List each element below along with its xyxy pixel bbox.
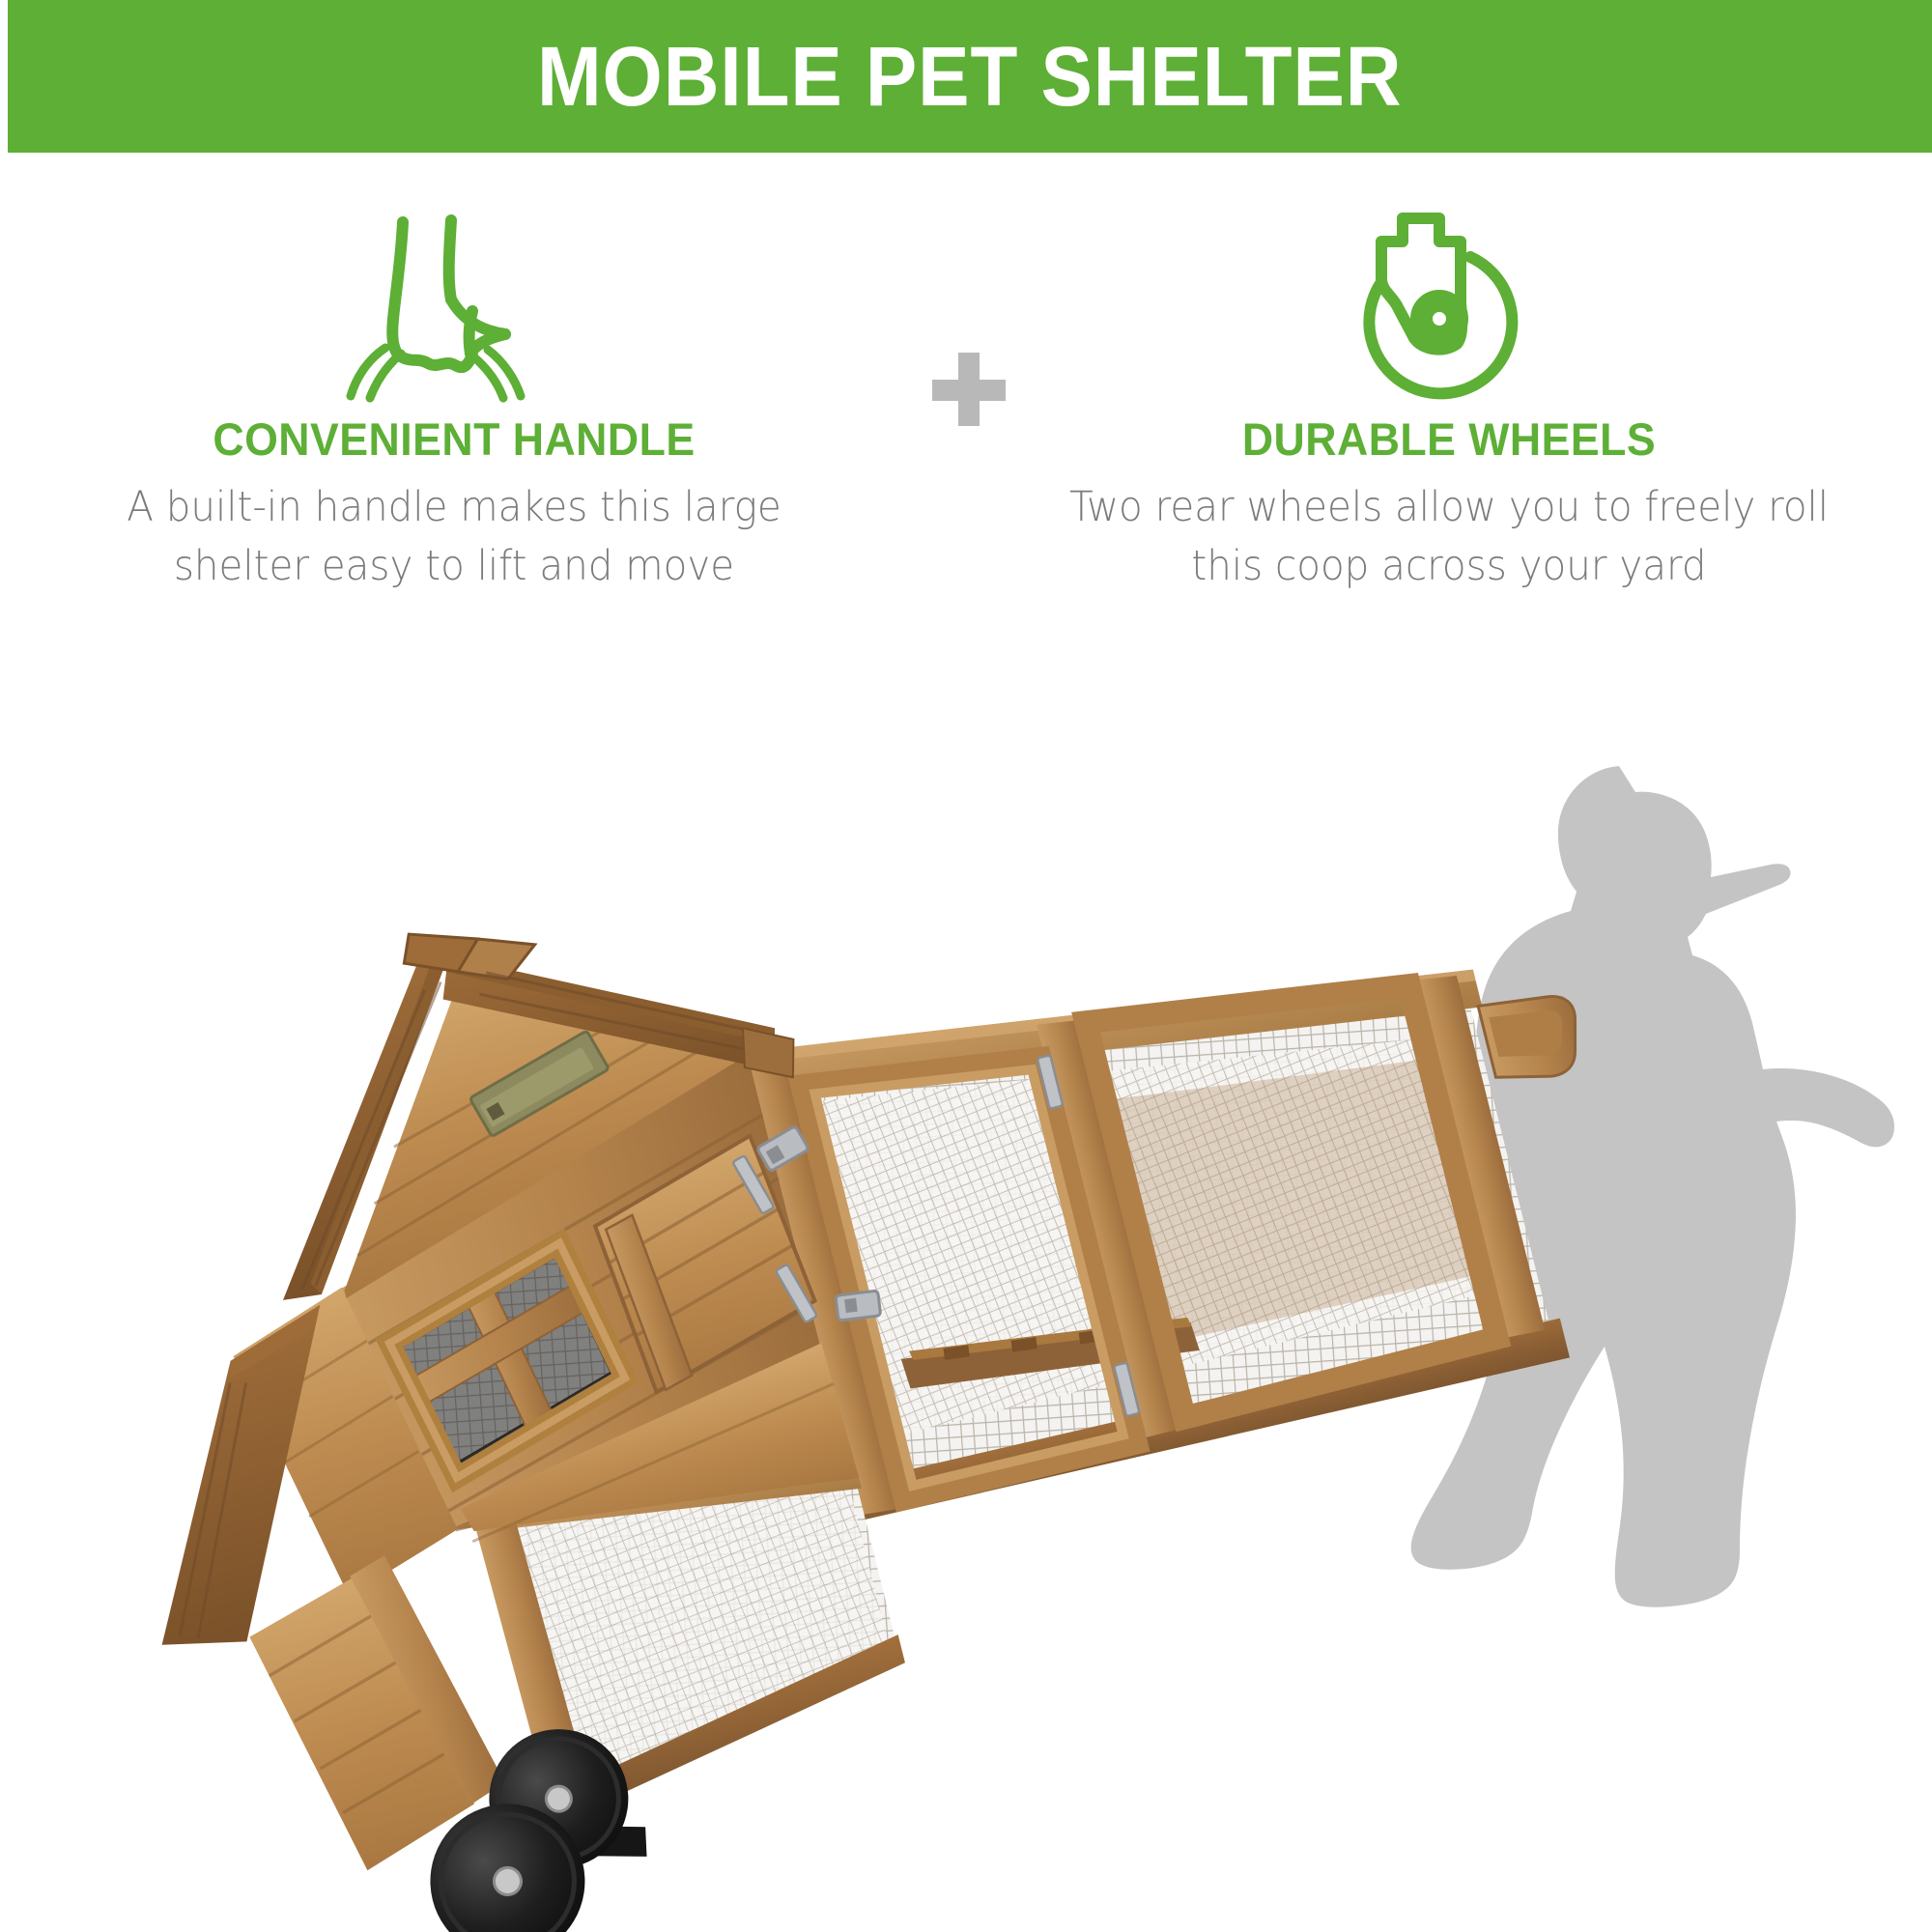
wooden-chicken-coop xyxy=(10,676,1735,1932)
feature-convenient-handle: CONVENIENT HANDLE A built-in handle make… xyxy=(29,193,879,596)
feature-body-handle: A built-in handle makes this large shelt… xyxy=(54,478,853,596)
page-title: MOBILE PET SHELTER xyxy=(537,35,1403,119)
hand-grip-handle-icon-wrap xyxy=(29,193,879,415)
hand-grip-handle-icon xyxy=(343,203,565,406)
feature-body-wheels: Two rear wheels allow you to freely roll… xyxy=(1049,478,1848,596)
product-photo xyxy=(0,676,1932,1932)
caster-wheel-icon-wrap xyxy=(1024,193,1874,415)
caster-wheel-icon xyxy=(1343,203,1555,406)
plus-icon-bar-vertical xyxy=(958,353,980,426)
feature-heading-wheels: DURABLE WHEELS xyxy=(1045,415,1853,463)
feature-heading-handle: CONVENIENT HANDLE xyxy=(50,415,858,463)
plus-icon xyxy=(932,353,1006,426)
feature-durable-wheels: DURABLE WHEELS Two rear wheels allow you… xyxy=(1024,193,1874,596)
feature-row: CONVENIENT HANDLE A built-in handle make… xyxy=(0,193,1932,676)
header-banner: MOBILE PET SHELTER xyxy=(8,0,1932,153)
